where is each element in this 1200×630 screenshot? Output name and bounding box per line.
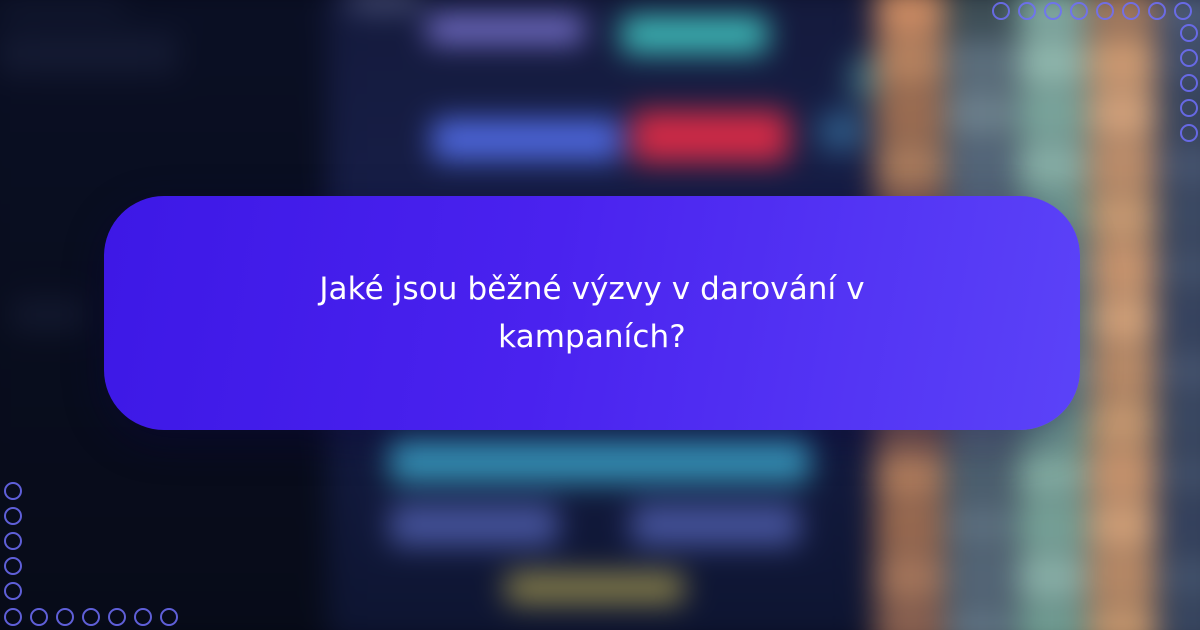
background-thumbnail — [1088, 449, 1157, 498]
background-thumbnail — [1088, 552, 1157, 601]
background-thumbnail — [1088, 398, 1157, 447]
background-thumbnail — [946, 38, 1015, 87]
circle-icon — [1180, 74, 1198, 92]
ring-column-right — [1180, 24, 1198, 142]
circle-icon — [160, 608, 178, 626]
background-thumbnail — [1088, 346, 1157, 395]
circle-icon — [4, 582, 22, 600]
background-center-block — [348, 0, 422, 9]
circle-icon — [1180, 49, 1198, 67]
circle-icon — [1148, 2, 1166, 20]
share-card: Jaké jsou běžné výzvy v darování v kampa… — [0, 0, 1200, 630]
background-thumbnail — [946, 552, 1015, 601]
background-thumbnail — [875, 38, 944, 87]
background-thumbnail — [1017, 38, 1086, 87]
circle-icon — [82, 608, 100, 626]
background-thumbnail — [1159, 346, 1200, 395]
background-thumbnail — [1088, 89, 1157, 138]
background-thumbnail — [1159, 295, 1200, 344]
background-thumbnail — [1159, 398, 1200, 447]
background-thumbnail — [1159, 552, 1200, 601]
background-thumbnail — [875, 449, 944, 498]
background-left-block — [0, 0, 125, 14]
background-thumbnail — [875, 604, 944, 630]
circle-icon — [1044, 2, 1062, 20]
background-thumbnail — [946, 449, 1015, 498]
background-thumbnail — [946, 604, 1015, 630]
circle-icon — [1096, 2, 1114, 20]
background-thumbnail — [875, 89, 944, 138]
background-center-block — [632, 504, 800, 546]
circle-icon — [30, 608, 48, 626]
background-thumbnail — [1088, 604, 1157, 630]
background-thumbnail — [946, 501, 1015, 550]
background-center-block — [390, 504, 558, 546]
background-thumbnail — [1017, 501, 1086, 550]
circle-icon — [1180, 124, 1198, 142]
background-thumbnail — [1088, 192, 1157, 241]
background-thumbnail — [1159, 604, 1200, 630]
question-card: Jaké jsou běžné výzvy v darování v kampa… — [104, 196, 1080, 430]
circle-icon — [108, 608, 126, 626]
background-thumbnail — [875, 0, 944, 36]
background-thumbnail — [1088, 141, 1157, 190]
circle-icon — [1070, 2, 1088, 20]
circle-icon — [1174, 2, 1192, 20]
circle-icon — [4, 557, 22, 575]
background-left-block — [12, 299, 85, 330]
circle-icon — [992, 2, 1010, 20]
background-left-block — [0, 33, 178, 75]
background-thumbnail — [875, 501, 944, 550]
circle-icon — [1180, 24, 1198, 42]
circle-icon — [56, 608, 74, 626]
ring-row-bottom — [4, 608, 178, 626]
background-thumbnail — [1159, 192, 1200, 241]
background-thumbnail — [1017, 449, 1086, 498]
background-thumbnail — [875, 552, 944, 601]
background-thumbnail — [1159, 501, 1200, 550]
background-thumbnail — [1088, 295, 1157, 344]
circle-icon — [1122, 2, 1140, 20]
background-thumbnail — [875, 141, 944, 190]
background-center-block — [506, 572, 684, 604]
circle-icon — [4, 608, 22, 626]
background-center-block — [632, 110, 789, 162]
background-thumbnail — [1088, 501, 1157, 550]
background-center-block — [390, 436, 810, 482]
background-center-block — [432, 119, 621, 161]
background-thumbnail — [946, 89, 1015, 138]
circle-icon — [134, 608, 152, 626]
circle-icon — [1180, 99, 1198, 117]
background-thumbnail — [1088, 38, 1157, 87]
background-thumbnail — [1017, 89, 1086, 138]
ring-column-left — [4, 482, 22, 600]
background-thumbnail — [1159, 141, 1200, 190]
background-thumbnail — [1159, 449, 1200, 498]
circle-icon — [4, 507, 22, 525]
circle-icon — [4, 482, 22, 500]
question-text: Jaké jsou běžné výzvy v darování v kampa… — [272, 265, 912, 361]
ring-row-top — [992, 2, 1192, 20]
circle-icon — [1018, 2, 1036, 20]
circle-icon — [4, 532, 22, 550]
background-center-block — [621, 16, 768, 54]
background-thumbnail — [946, 141, 1015, 190]
background-thumbnail — [1017, 604, 1086, 630]
background-center-block — [427, 16, 585, 43]
background-thumbnail — [1017, 141, 1086, 190]
background-thumbnail — [1159, 244, 1200, 293]
background-thumbnail — [1088, 244, 1157, 293]
background-thumbnail — [1017, 552, 1086, 601]
